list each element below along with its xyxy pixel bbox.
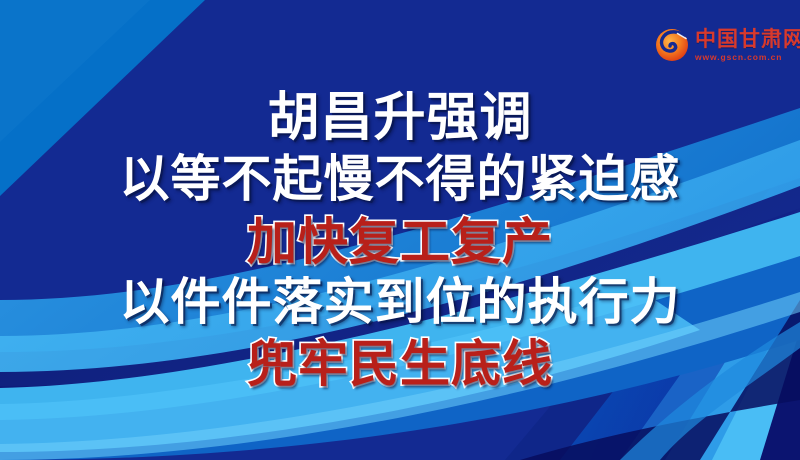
- headline-line-2: 以等不起慢不得的紧迫感: [0, 148, 800, 210]
- logo-title: 中国甘肃网: [695, 29, 800, 50]
- headline-line-3: 加快复工复产: [0, 212, 800, 272]
- headline-block: 胡昌升强调 以等不起慢不得的紧迫感 加快复工复产 以件件落实到位的执行力 兜牢民…: [0, 88, 800, 394]
- site-logo[interactable]: 中国甘肃网 www.gscn.com.cn: [654, 22, 790, 68]
- gansu-net-circle-logo-icon: [654, 27, 690, 63]
- headline-line-5: 兜牢民生底线: [0, 334, 800, 394]
- headline-line-1: 胡昌升强调: [0, 88, 800, 148]
- news-banner: 中国甘肃网 www.gscn.com.cn 胡昌升强调 以等不起慢不得的紧迫感 …: [0, 0, 800, 460]
- headline-line-4: 以件件落实到位的执行力: [0, 272, 800, 332]
- logo-url: www.gscn.com.cn: [695, 53, 800, 62]
